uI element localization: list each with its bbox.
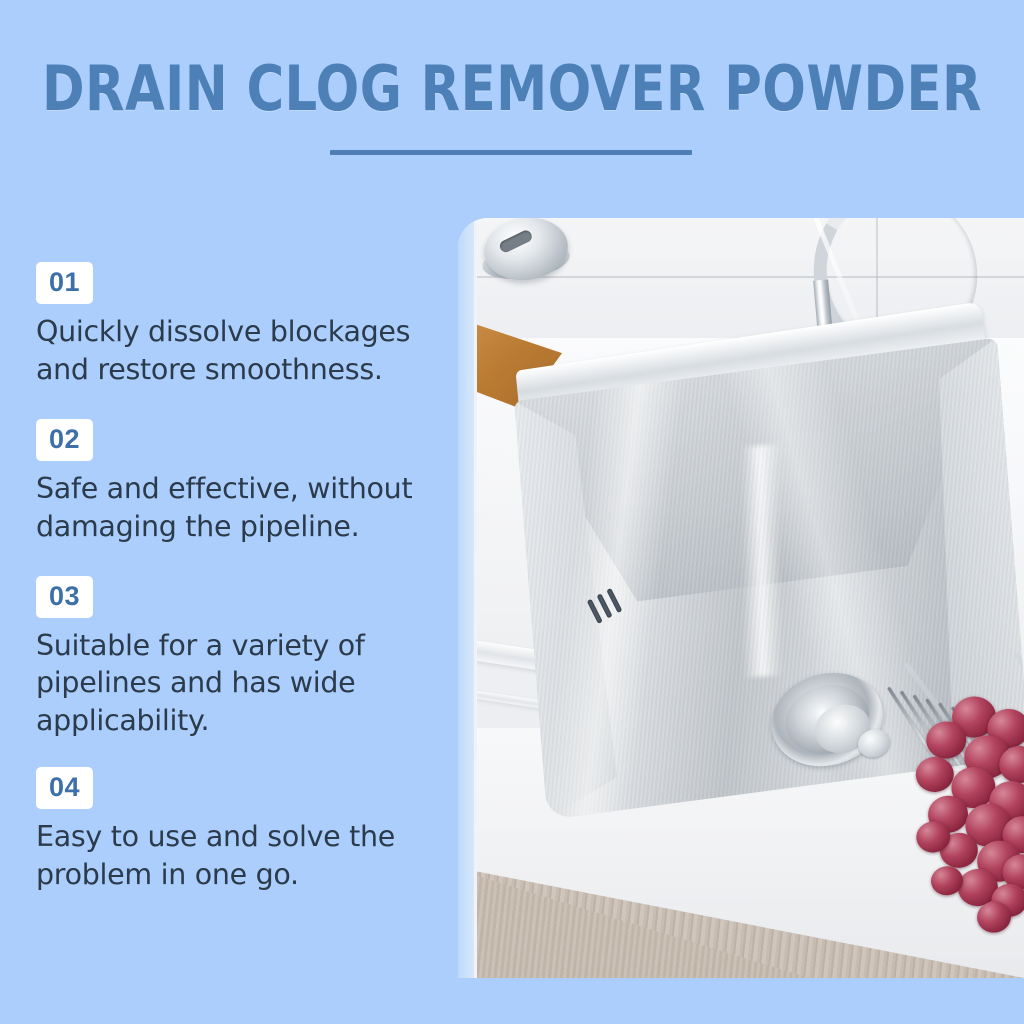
basin-corner-highlight — [740, 444, 782, 677]
feature-text-02: Safe and effective, without damaging the… — [36, 470, 431, 546]
feature-item-02: 02 Safe and effective, without damaging … — [36, 419, 436, 546]
product-photo — [458, 218, 1024, 978]
drain-ring-core — [812, 700, 874, 758]
feature-list: 01 Quickly dissolve blockages and restor… — [36, 262, 436, 894]
drain-ring-inner — [781, 678, 873, 761]
drain-strainer — [766, 664, 889, 775]
feature-item-04: 04 Easy to use and solve the problem in … — [36, 767, 436, 894]
title-divider — [330, 150, 692, 155]
drain-knob — [856, 727, 891, 761]
feature-item-01: 01 Quickly dissolve blockages and restor… — [36, 262, 436, 389]
feature-number-badge-03: 03 — [36, 576, 93, 618]
feature-number-badge-02: 02 — [36, 419, 93, 461]
infographic-page: DRAIN CLOG REMOVER POWDER 01 Quickly dis… — [0, 0, 1024, 1024]
feature-text-01: Quickly dissolve blockages and restore s… — [36, 313, 431, 389]
feature-number-badge-01: 01 — [36, 262, 93, 304]
page-title: DRAIN CLOG REMOVER POWDER — [41, 52, 983, 125]
feature-number-badge-04: 04 — [36, 767, 93, 809]
feature-text-03: Suitable for a variety of pipelines and … — [36, 627, 431, 741]
red-grapes — [888, 692, 1024, 934]
feature-text-04: Easy to use and solve the problem in one… — [36, 818, 431, 894]
feature-item-03: 03 Suitable for a variety of pipelines a… — [36, 576, 436, 741]
grape — [914, 755, 955, 794]
photo-left-edge — [458, 218, 477, 978]
